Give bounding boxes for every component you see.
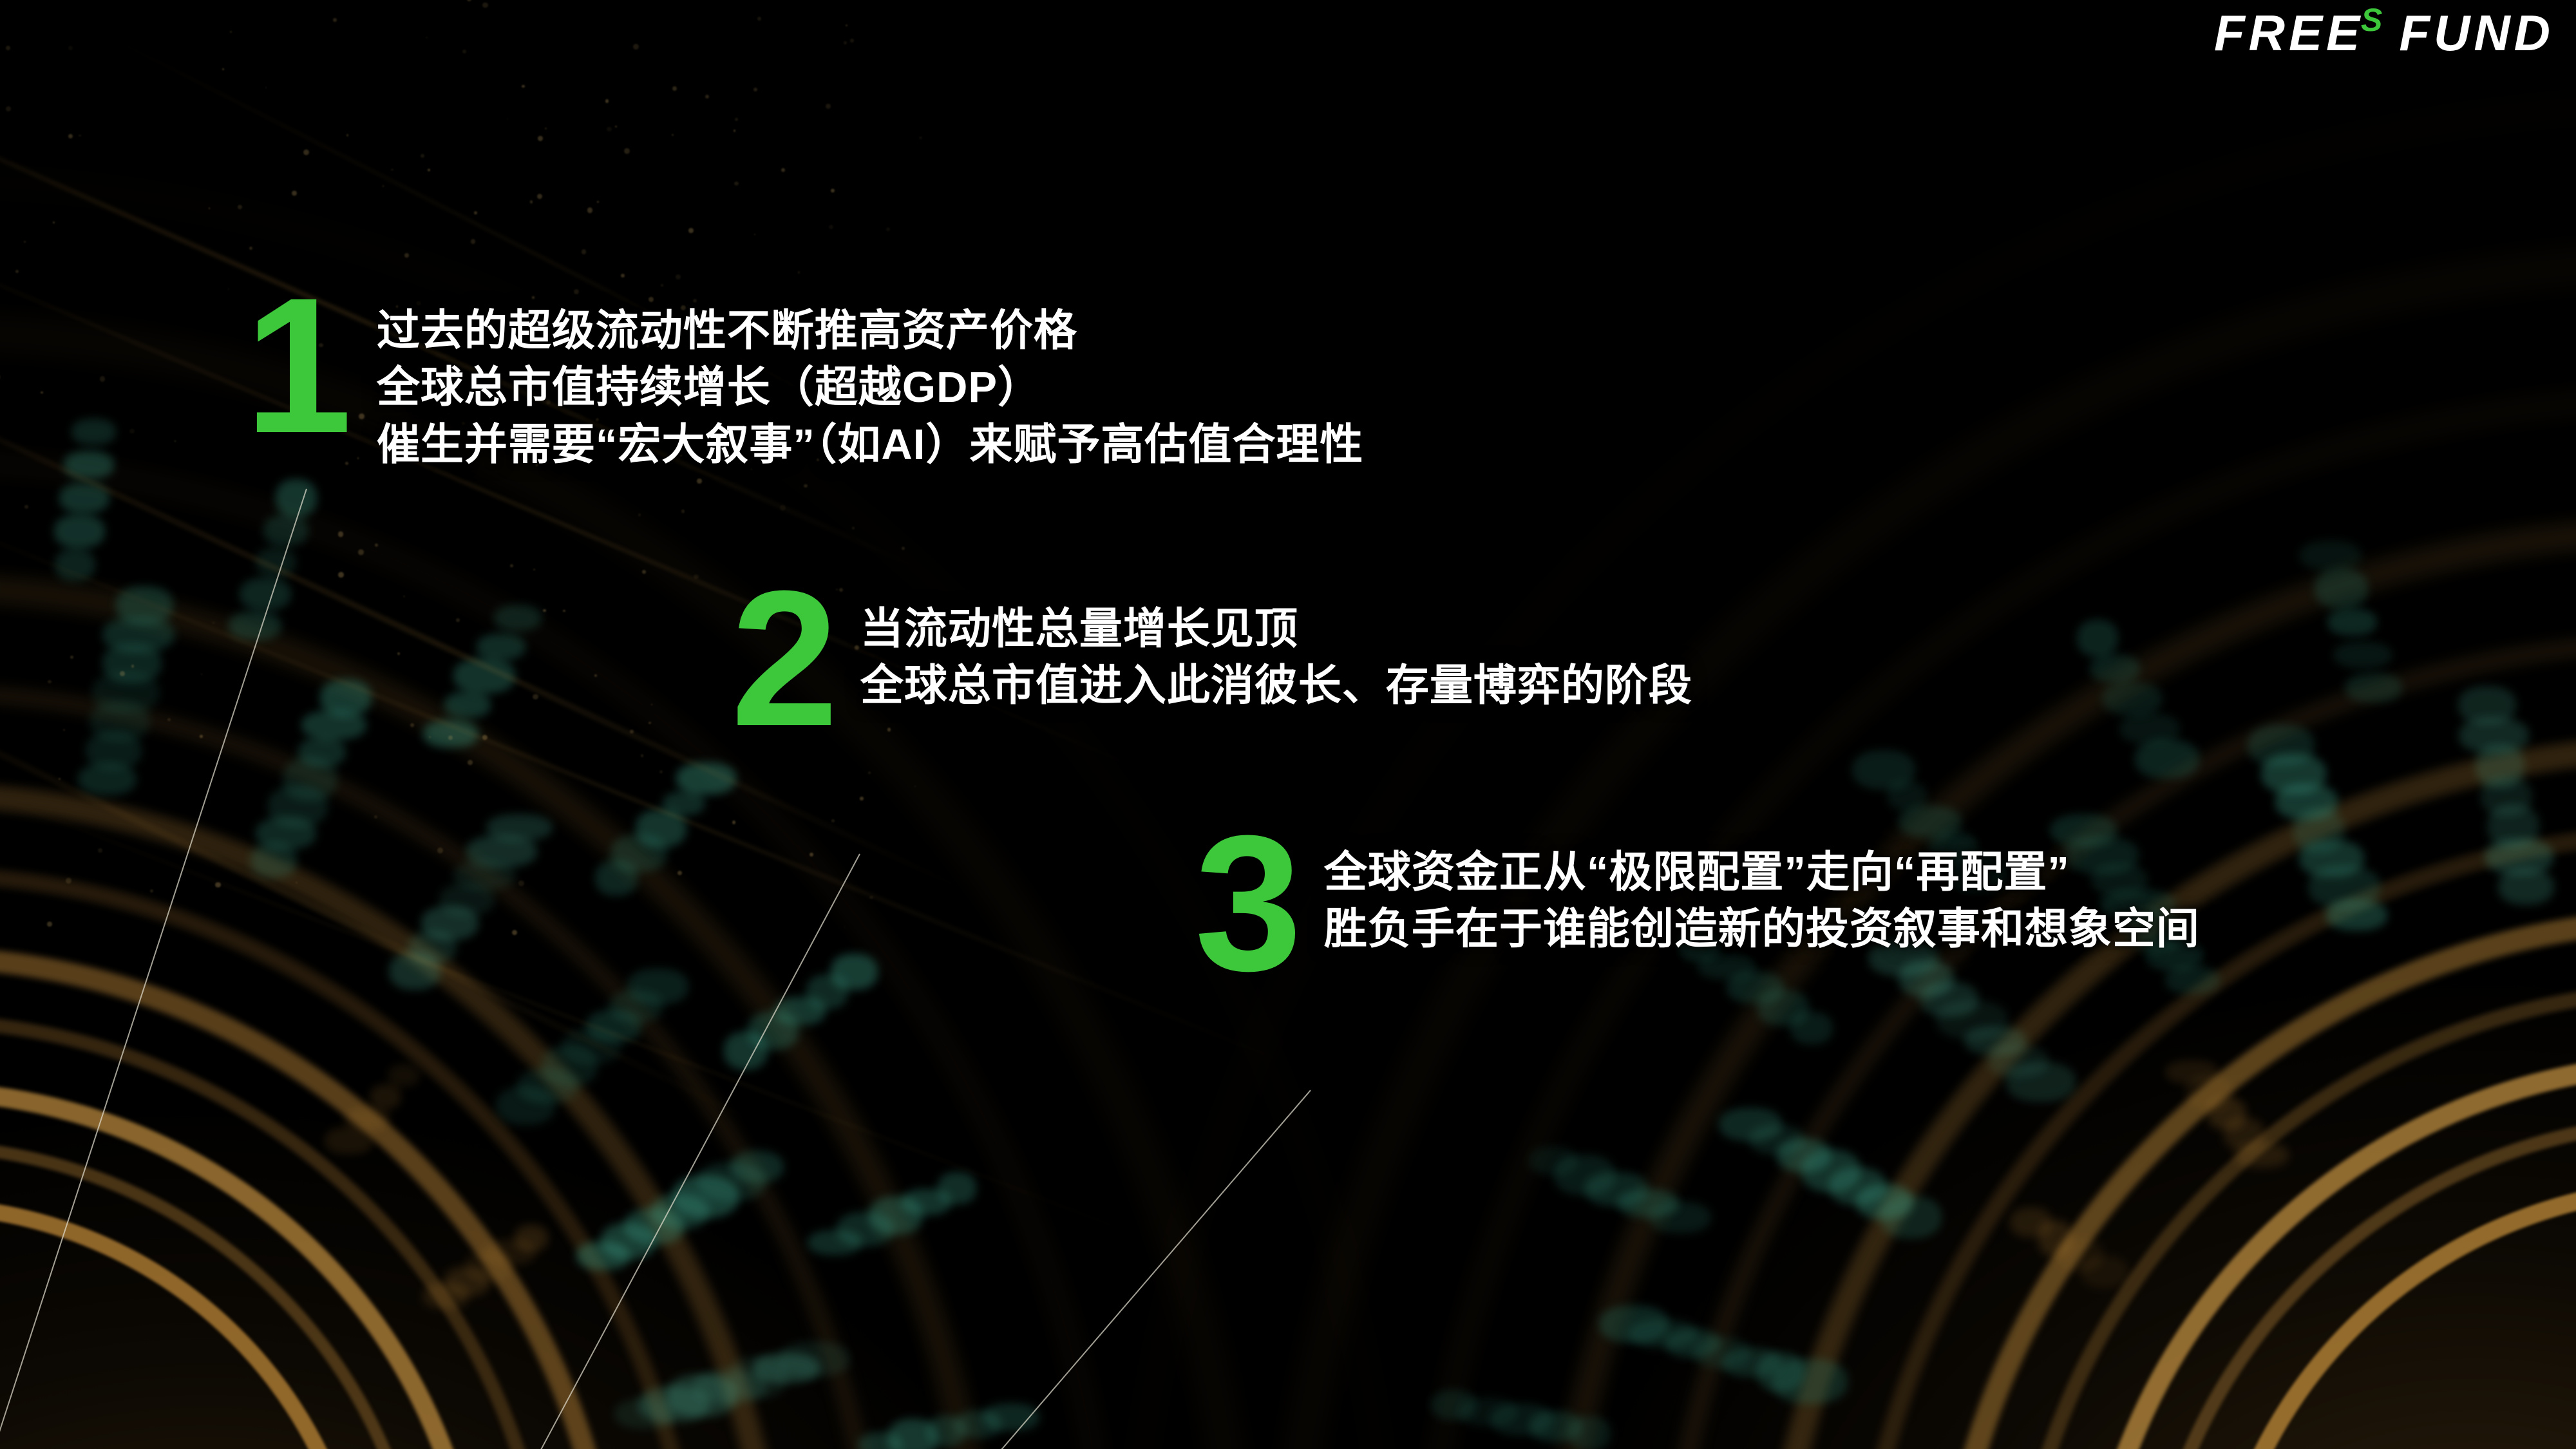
background-speck	[530, 200, 533, 204]
background-speck	[333, 18, 337, 22]
background-speck	[563, 610, 565, 612]
background-coin	[251, 843, 297, 878]
background-arc	[2006, 982, 2576, 1449]
background-arc	[0, 1014, 557, 1449]
background-coin	[2326, 900, 2387, 931]
background-coin	[2248, 724, 2315, 766]
background-speck	[24, 241, 26, 243]
background-speck	[48, 680, 51, 683]
background-speck	[482, 735, 488, 740]
background-speck	[6, 106, 11, 111]
background-speck	[868, 772, 870, 773]
background-coin	[2327, 609, 2377, 636]
background-coin	[1801, 1150, 1861, 1192]
background-speck	[507, 118, 508, 120]
background-coin	[2345, 673, 2402, 703]
background-speck	[59, 778, 61, 780]
background-coin	[283, 757, 337, 800]
background-coin	[576, 1242, 630, 1270]
background-coin	[831, 954, 878, 989]
background-coin	[1431, 1390, 1476, 1420]
background-speck	[437, 848, 443, 853]
background-speck	[638, 513, 641, 516]
background-coin	[325, 1127, 374, 1154]
background-speck	[798, 271, 800, 274]
background-speck	[734, 182, 738, 185]
background-speck	[426, 37, 428, 39]
background-speck	[167, 718, 171, 721]
background-speck	[831, 189, 835, 193]
background-coin	[1852, 750, 1915, 790]
background-coin	[956, 1410, 1001, 1437]
background-speck	[518, 880, 524, 886]
background-speck	[428, 169, 430, 171]
background-speck	[15, 270, 19, 273]
background-arc	[0, 782, 789, 1449]
background-speck	[850, 39, 853, 42]
background-streak	[0, 632, 770, 1132]
background-coin	[1665, 1329, 1720, 1358]
background-coin	[1719, 1108, 1782, 1141]
background-coin	[808, 1230, 862, 1255]
background-coin	[64, 451, 114, 479]
background-speck	[829, 225, 833, 229]
background-coin	[2006, 1062, 2076, 1101]
background-coin	[614, 1399, 676, 1429]
background-speck	[607, 127, 611, 131]
background-coin	[444, 692, 491, 717]
background-speck	[375, 544, 378, 547]
background-speck	[545, 128, 547, 130]
background-speck	[79, 135, 80, 137]
background-arc	[2138, 1114, 2576, 1449]
background-coin	[2299, 840, 2364, 877]
background-coin	[453, 861, 516, 891]
background-coin	[229, 611, 281, 640]
connector-line-1	[0, 489, 307, 1449]
background-speck	[902, 547, 905, 550]
background-coin	[496, 1086, 555, 1125]
background-speck	[522, 85, 525, 88]
background-speck	[200, 735, 203, 738]
background-coin	[837, 1212, 895, 1246]
background-coin	[1880, 1196, 1942, 1238]
bullet-numeral-1: 1	[245, 290, 348, 440]
background-coin	[775, 997, 826, 1025]
background-coin	[753, 1353, 820, 1383]
background-speck	[869, 896, 873, 899]
background-coin	[1749, 1125, 1805, 1155]
background-speck	[404, 253, 408, 257]
background-coin	[586, 1010, 641, 1043]
background-speck	[265, 87, 267, 89]
background-coin	[465, 1251, 512, 1282]
bullet-line-1-1: 过去的超级流动性不断推高资产价格	[377, 303, 1364, 359]
background-coin	[806, 974, 848, 1009]
background-coin	[421, 906, 478, 940]
background-speck	[456, 618, 460, 622]
background-coin	[2261, 753, 2326, 794]
background-coin	[298, 737, 346, 767]
background-coin	[240, 578, 291, 611]
background-coin	[484, 1240, 537, 1265]
background-coin	[256, 817, 316, 849]
bullet-text-group-3: 全球资金正从“极限配置”走向“再配置” 胜负手在于谁能创造新的投资叙事和想象空间	[1324, 844, 2200, 958]
bullet-numeral-3: 3	[1195, 828, 1298, 978]
background-coin	[902, 1189, 951, 1215]
background-coin	[263, 515, 308, 546]
bullet-line-2-1: 当流动性总量增长见顶	[860, 601, 1692, 658]
background-speck	[482, 3, 488, 8]
background-coin	[779, 1341, 850, 1377]
background-speck	[467, 0, 471, 1]
background-speck	[860, 797, 863, 800]
background-speck	[421, 154, 424, 158]
background-coin	[1529, 1146, 1577, 1175]
background-coin	[748, 1012, 799, 1050]
background-coin	[1777, 1139, 1831, 1172]
background-coin	[1569, 1416, 1611, 1449]
background-arc	[2077, 1053, 2576, 1449]
background-coin	[2459, 717, 2529, 753]
logo-word-free: FREE	[2214, 8, 2363, 58]
background-streak	[0, 760, 1197, 1259]
background-coin	[71, 419, 116, 444]
background-coin	[1721, 1348, 1781, 1377]
background-coin	[1887, 781, 1927, 810]
background-speck	[672, 86, 677, 91]
background-speck	[538, 136, 542, 140]
bullet-block-1: 1 过去的超级流动性不断推高资产价格 全球总市值持续增长（超越GDP） 催生并需…	[245, 290, 1363, 473]
bullet-line-1-2: 全球总市值持续增长（超越GDP）	[377, 359, 1364, 416]
background-speck	[201, 674, 202, 675]
background-speck	[471, 239, 475, 243]
background-speck	[753, 88, 757, 91]
background-speck	[621, 274, 625, 278]
background-speck	[615, 126, 617, 128]
background-speck	[175, 440, 176, 442]
background-coin	[389, 952, 440, 990]
background-coin	[466, 835, 537, 867]
background-speck	[510, 564, 513, 567]
background-arc	[0, 683, 889, 1449]
background-coin	[2481, 777, 2532, 816]
background-coin	[2299, 540, 2362, 571]
background-speck	[429, 736, 431, 738]
background-speck	[410, 723, 414, 727]
background-coin	[2102, 682, 2163, 715]
background-coin	[78, 763, 137, 796]
background-speck	[694, 574, 699, 580]
logo-superscript-s: S	[2361, 4, 2382, 36]
background-speck	[543, 609, 545, 612]
background-coin	[486, 814, 553, 842]
bullet-block-2: 2 当流动性总量增长见顶 全球总市值进入此消彼长、存量博弈的阶段	[731, 583, 1692, 734]
bullet-line-3-1: 全球资金正从“极限配置”走向“再配置”	[1324, 844, 2200, 901]
background-coin	[611, 835, 667, 872]
background-speck	[754, 234, 755, 235]
background-coin	[542, 1045, 598, 1086]
background-speck	[303, 149, 309, 155]
background-speck	[70, 656, 73, 659]
background-coin	[1490, 1403, 1552, 1435]
background-coin	[370, 1084, 401, 1110]
background-speck	[676, 274, 681, 279]
background-speck	[697, 478, 702, 484]
background-speck	[844, 927, 845, 928]
background-coin	[54, 515, 105, 547]
background-speck	[831, 819, 834, 822]
background-coin	[268, 786, 328, 827]
background-arc	[1655, 631, 2576, 1449]
background-coin	[2275, 784, 2338, 820]
background-coin	[102, 617, 175, 652]
background-arc	[0, 316, 1256, 1449]
background-coin	[663, 791, 705, 815]
background-coin	[1988, 1045, 2049, 1077]
background-speck	[633, 44, 639, 50]
background-speck	[735, 118, 738, 121]
background-speck	[624, 148, 630, 154]
connector-line-2	[540, 854, 860, 1449]
background-speck	[209, 207, 210, 209]
background-speck	[53, 222, 55, 223]
background-speck	[249, 247, 252, 250]
background-coin	[116, 586, 173, 625]
background-coin	[730, 1151, 784, 1183]
bullet-text-group-1: 过去的超级流动性不断推高资产价格 全球总市值持续增长（超越GDP） 催生并需要“…	[377, 303, 1364, 473]
background-speck	[129, 429, 134, 433]
background-coin	[938, 1172, 976, 1204]
background-speck	[537, 194, 542, 199]
background-coin	[102, 644, 162, 683]
background-coin	[667, 1374, 737, 1417]
background-speck	[374, 815, 377, 819]
background-coin	[439, 884, 495, 916]
background-coin	[636, 810, 687, 848]
background-coin	[276, 479, 317, 517]
background-speck	[512, 930, 518, 936]
background-coin	[1554, 1155, 1615, 1195]
background-coin	[494, 605, 542, 631]
logo-word-fund: FUND	[2399, 8, 2554, 58]
background-streak	[0, 489, 1305, 1072]
background-arc	[2202, 1179, 2576, 1449]
background-speck	[804, 484, 808, 488]
bullet-line-2-2: 全球总市值进入此消彼长、存量博弈的阶段	[860, 658, 1692, 714]
background-speck	[462, 50, 466, 53]
bullet-line-1-3: 催生并需要“宏大叙事”（如AI）来赋予高估值合理性	[377, 417, 1364, 473]
background-speck	[886, 227, 890, 231]
background-speck	[677, 871, 683, 876]
background-coin	[983, 1403, 1039, 1431]
background-coin	[1599, 1305, 1669, 1342]
background-speck	[212, 621, 214, 624]
background-coin	[609, 990, 663, 1023]
background-coin	[1693, 1337, 1750, 1368]
background-speck	[594, 674, 597, 677]
background-coin	[55, 549, 96, 581]
background-coin	[59, 483, 109, 513]
background-speck	[533, 569, 535, 571]
bullet-block-3: 3 全球资金正从“极限配置”走向“再配置” 胜负手在于谁能创造新的投资叙事和想象…	[1195, 828, 2200, 978]
background-coin	[1790, 1012, 1833, 1045]
background-speck	[222, 68, 224, 70]
background-coin	[320, 679, 372, 717]
background-speck	[230, 31, 232, 33]
background-speck	[63, 729, 65, 731]
bullet-line-3-2: 胜负手在于谁能创造新的投资叙事和想象空间	[1324, 901, 2200, 958]
background-arc	[1539, 515, 2576, 1449]
background-arc	[1932, 908, 2576, 1449]
background-speck	[474, 211, 477, 214]
connector-line-3	[1001, 1090, 1311, 1449]
background-speck	[914, 786, 916, 787]
background-speck	[651, 704, 652, 705]
background-coin	[423, 1283, 468, 1308]
background-coin	[697, 1162, 766, 1201]
background-speck	[672, 134, 674, 136]
background-coin	[517, 1068, 578, 1104]
background-coin	[627, 969, 688, 1005]
background-speck	[338, 572, 344, 578]
background-speck	[98, 848, 102, 852]
background-speck	[642, 570, 646, 574]
bullet-text-group-2: 当流动性总量增长见顶 全球总市值进入此消彼长、存量博弈的阶段	[860, 601, 1692, 715]
background-coin	[1856, 1184, 1913, 1219]
background-coin	[2308, 866, 2380, 907]
background-coin	[444, 1267, 491, 1296]
background-coin	[2458, 686, 2516, 724]
background-coin	[92, 672, 160, 713]
background-coin	[423, 720, 479, 748]
background-coin	[1649, 1202, 1711, 1233]
background-coin	[1920, 981, 1979, 1017]
background-coin	[2077, 620, 2118, 657]
background-speck	[68, 46, 73, 50]
background-coin	[2333, 641, 2392, 669]
background-speck	[757, 17, 761, 21]
background-coin	[1629, 1320, 1698, 1348]
background-speck	[346, 134, 348, 136]
background-coin	[2498, 869, 2554, 905]
background-coin	[728, 1356, 788, 1398]
background-speck	[533, 694, 538, 700]
background-speck	[383, 185, 384, 187]
background-speck	[846, 24, 848, 26]
background-speck	[448, 735, 453, 740]
background-speck	[826, 104, 831, 109]
background-arc	[0, 866, 705, 1449]
background-coin	[2234, 1142, 2289, 1168]
background-arc	[0, 1140, 431, 1449]
background-speck	[68, 134, 73, 138]
background-speck	[659, 770, 663, 773]
background-coin	[2119, 713, 2181, 744]
background-coin	[1757, 1352, 1805, 1392]
background-coin	[256, 547, 296, 577]
background-coin	[2090, 654, 2140, 683]
background-speck	[338, 531, 344, 537]
background-arc	[0, 1082, 489, 1449]
background-speck	[47, 922, 52, 927]
background-coin	[2038, 1220, 2073, 1257]
background-speck	[781, 168, 785, 172]
background-speck	[597, 201, 598, 202]
background-coin	[2081, 1256, 2128, 1289]
background-coin	[515, 1225, 549, 1251]
background-coin	[638, 1387, 708, 1423]
background-coin	[1618, 1189, 1680, 1218]
background-speck	[630, 730, 634, 734]
background-coin	[453, 658, 515, 693]
background-speck	[150, 889, 153, 893]
background-speck	[238, 205, 242, 209]
background-coin	[2315, 569, 2368, 609]
background-speck	[228, 289, 229, 290]
background-speck	[292, 191, 297, 196]
background-coin	[477, 634, 525, 660]
background-speck	[358, 549, 363, 554]
background-coin	[408, 931, 457, 963]
background-speck	[582, 249, 586, 254]
background-speck	[649, 722, 650, 724]
background-speck	[131, 665, 134, 667]
background-coin	[301, 710, 367, 740]
background-coin	[2485, 838, 2553, 875]
background-coin	[1829, 1168, 1886, 1206]
background-coin	[2057, 1238, 2103, 1272]
background-speck	[732, 820, 735, 824]
background-speck	[296, 882, 298, 884]
background-speck	[641, 754, 644, 757]
background-coin	[1757, 990, 1810, 1025]
background-coin	[1585, 1172, 1648, 1206]
background-coin	[2487, 804, 2539, 848]
background-speck	[468, 760, 473, 765]
background-speck	[852, 527, 855, 529]
background-speck	[844, 41, 847, 44]
background-coin	[1529, 1411, 1582, 1442]
background-coin	[562, 1028, 621, 1065]
background-speck	[734, 129, 735, 131]
slide-canvas: FREE S FUND 1 过去的超级流动性不断推高资产价格 全球总市值持续增长…	[0, 0, 2576, 1449]
background-speck	[403, 596, 405, 598]
background-speck	[681, 509, 685, 513]
background-coin	[2135, 739, 2199, 778]
background-speck	[605, 99, 609, 103]
background-speck	[919, 137, 922, 140]
background-speck	[705, 95, 709, 99]
background-speck	[41, 392, 43, 394]
background-coin	[2476, 744, 2524, 788]
background-coin	[888, 1419, 938, 1449]
background-coin	[869, 1197, 923, 1235]
background-speck	[215, 882, 221, 888]
background-speck	[66, 878, 71, 884]
background-arc	[0, 947, 625, 1449]
background-speck	[120, 671, 125, 676]
background-coin	[2224, 1118, 2264, 1150]
background-coin	[86, 732, 142, 770]
background-speck	[688, 228, 694, 234]
background-coin	[601, 1223, 656, 1259]
background-coin	[2165, 1060, 2219, 1084]
background-coin	[693, 1370, 766, 1403]
background-coin	[651, 1194, 709, 1229]
background-speck	[661, 284, 663, 287]
background-coin	[672, 1175, 739, 1218]
